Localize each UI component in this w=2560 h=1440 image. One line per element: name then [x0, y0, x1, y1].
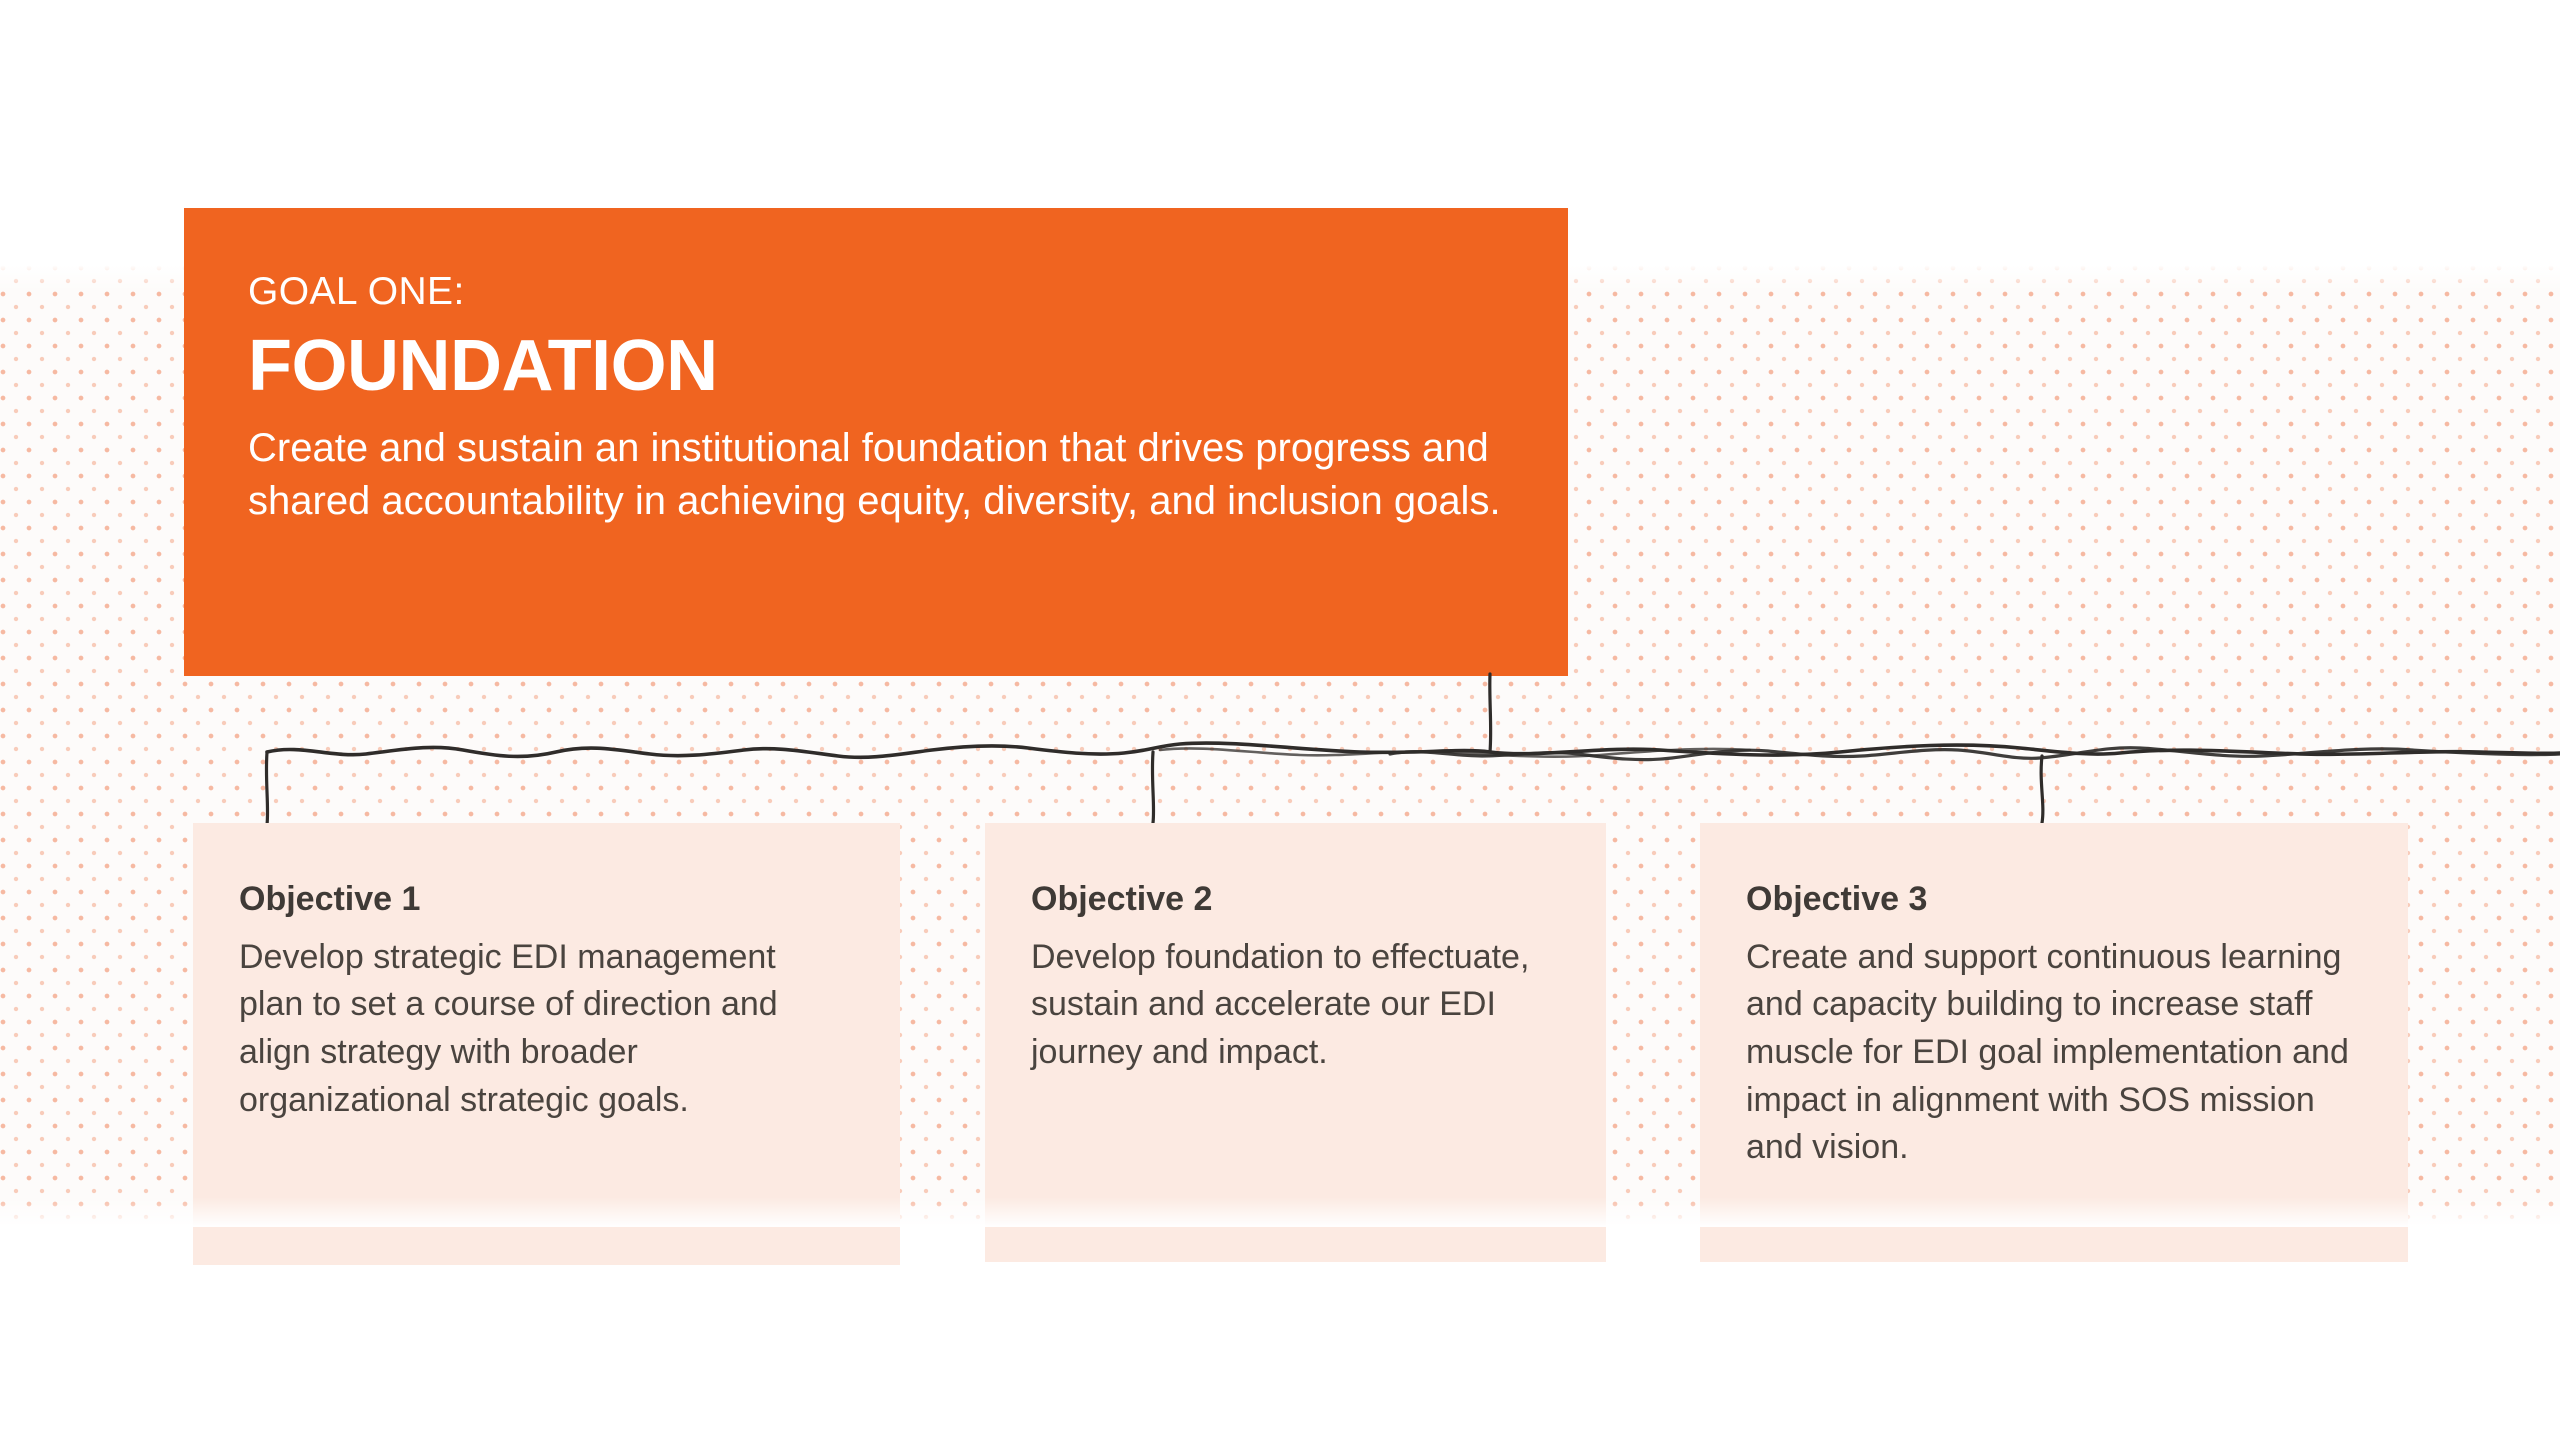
goal-title: FOUNDATION — [248, 329, 1568, 404]
connector-drop-objective-3 — [2041, 756, 2043, 823]
goal-eyebrow-label: GOAL ONE: — [248, 270, 1568, 315]
objective-card-3: Objective 3 Create and support continuou… — [1700, 823, 2408, 1262]
connector-stem-from-goal — [1490, 674, 1491, 752]
objective-card-2: Objective 2 Develop foundation to effect… — [985, 823, 1606, 1262]
objective-card-1: Objective 1 Develop strategic EDI manage… — [193, 823, 900, 1265]
goal-banner: GOAL ONE: FOUNDATION Create and sustain … — [184, 208, 1568, 676]
objective-card-2-title: Objective 2 — [1031, 879, 1560, 920]
objective-card-3-title: Objective 3 — [1746, 879, 2362, 920]
objective-card-3-body: Create and support continuous learning a… — [1746, 934, 2366, 1172]
goal-description: Create and sustain an institutional foun… — [248, 422, 1538, 528]
objective-card-2-body: Develop foundation to effectuate, sustai… — [1031, 934, 1551, 1077]
connector-drop-objective-2 — [1152, 752, 1153, 823]
connector-drop-objective-1 — [266, 752, 267, 825]
objective-card-1-title: Objective 1 — [239, 879, 854, 920]
objective-card-1-body: Develop strategic EDI management plan to… — [239, 934, 839, 1124]
slide-canvas: GOAL ONE: FOUNDATION Create and sustain … — [0, 0, 2560, 1440]
